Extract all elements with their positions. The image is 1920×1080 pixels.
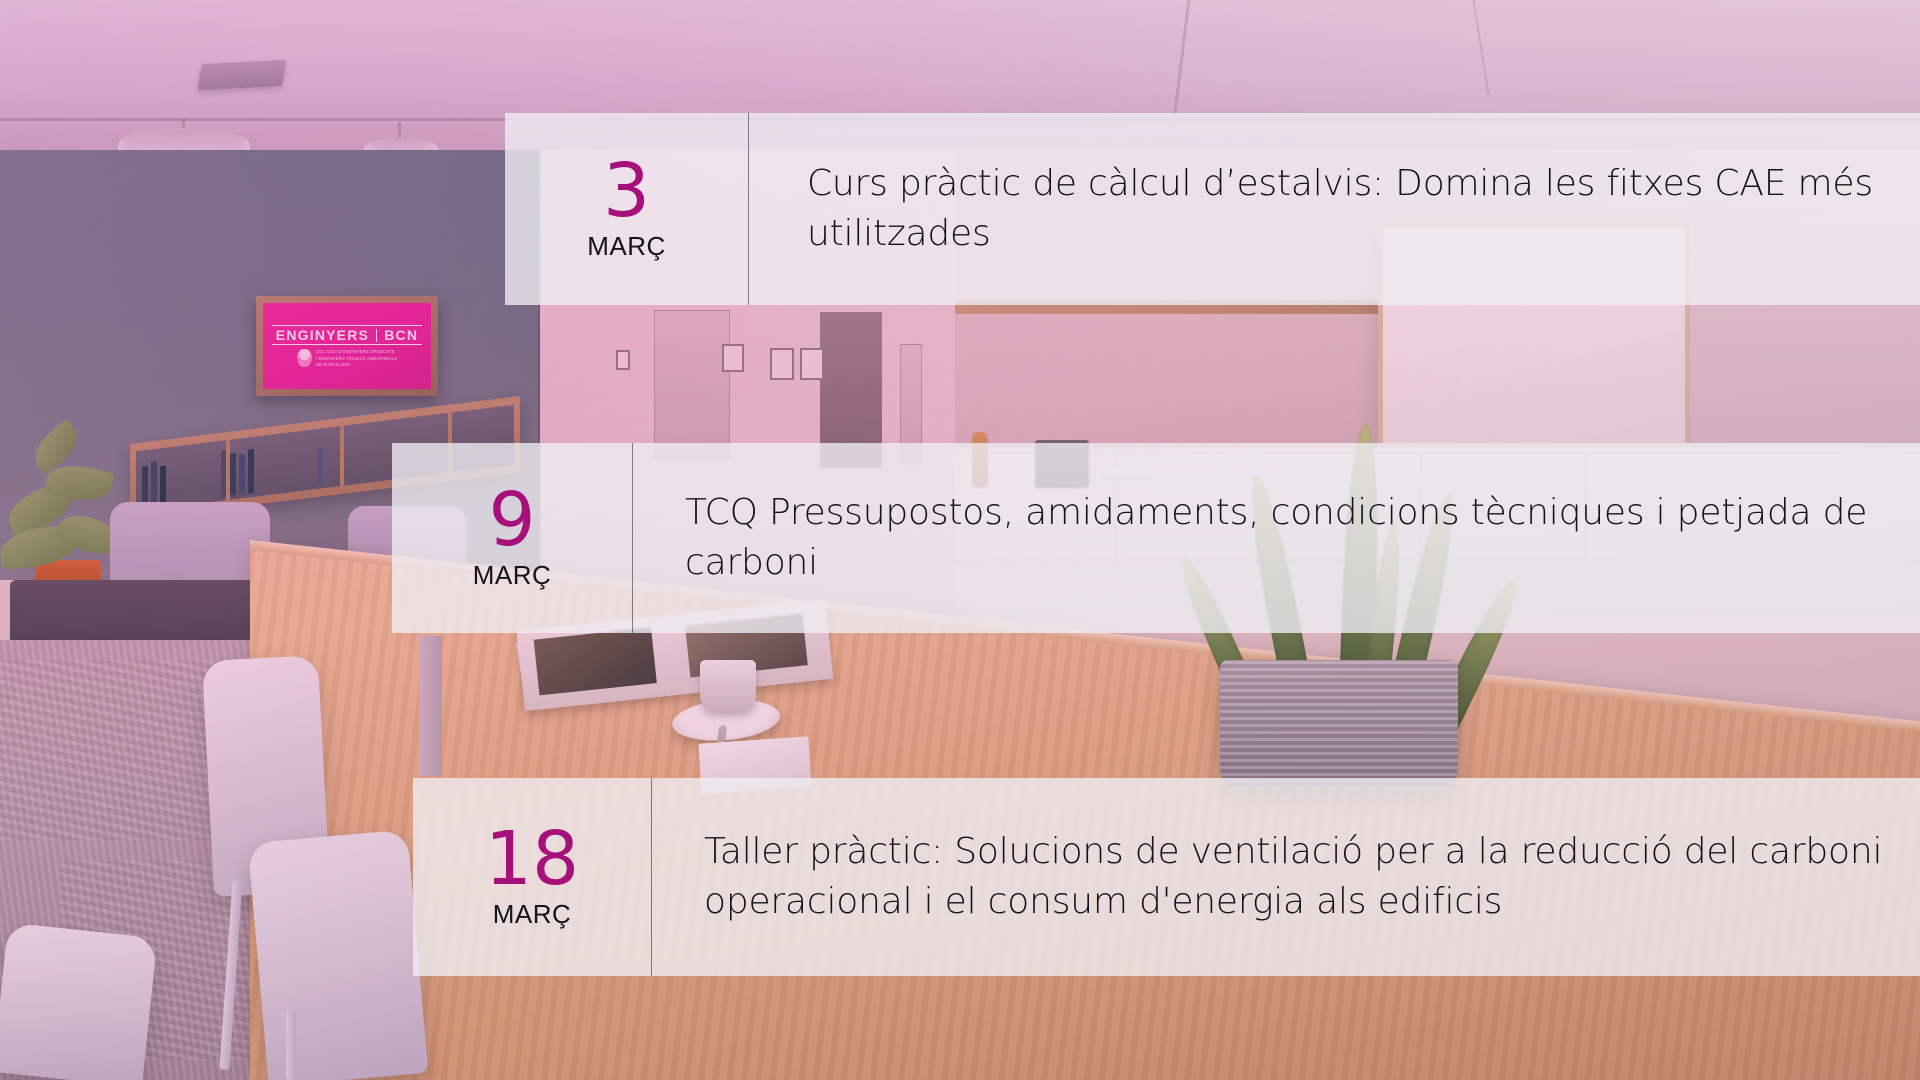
enginyers-bcn-logo-screen: ENGINYERS BCN COL·LEGI D'ENGINYERS GRADU… [263,303,431,389]
wall-frame-3 [800,348,824,380]
shelf-divider [226,440,230,500]
table-leg [420,636,442,776]
event-card-1[interactable]: 3 MARÇ Curs pràctic de càlcul d’estalvis… [505,113,1920,305]
wall-screen-frame: ENGINYERS BCN COL·LEGI D'ENGINYERS GRADU… [256,296,438,396]
book [160,466,166,505]
event-date-2: 9 MARÇ [392,443,632,633]
book [230,453,236,496]
chair-leg [286,1010,296,1080]
chair-front-2 [248,829,429,1080]
magazine-photo-left [534,627,657,695]
book [151,461,157,506]
snake-plant-pot [1220,660,1458,790]
event-card-3[interactable]: 18 MARÇ Taller pràctic: Solucions de ven… [413,778,1920,976]
event-month-1: MARÇ [587,231,666,262]
event-day-2: 9 [488,485,535,555]
coffee-cup [700,660,756,712]
book [248,449,254,494]
book [317,448,323,485]
event-title-2: TCQ Pressupostos, amidaments, condicions… [633,443,1920,633]
book [239,454,245,495]
event-date-3: 18 MARÇ [413,778,651,976]
door-left [654,310,730,460]
brand-subtitle-line-2: I ENGINYERS TÈCNICS INDUSTRIALS [316,356,397,361]
book [142,466,148,507]
brand-suffix: BCN [384,327,418,343]
event-day-3: 18 [485,824,579,894]
event-month-2: MARÇ [473,560,552,591]
ceiling-vent [198,60,287,90]
wall-frame-2 [770,348,794,380]
event-month-3: MARÇ [493,899,572,930]
brand-wordmark: ENGINYERS BCN [272,325,422,345]
event-title-3: Taller pràctic: Solucions de ventilació … [652,778,1920,976]
event-title-1: Curs pràctic de càlcul d’estalvis: Domin… [749,113,1920,305]
chair-front-3 [0,923,157,1080]
event-card-2[interactable]: 9 MARÇ TCQ Pressupostos, amidaments, con… [392,443,1920,633]
wall-frame-4 [616,350,630,370]
armchair-lilac [110,502,270,588]
brand-subtitle-line-3: DE BARCELONA [316,362,397,367]
brand-separator [376,329,377,342]
shelf-divider [340,426,344,486]
event-date-1: 3 MARÇ [505,113,748,305]
event-day-1: 3 [603,156,650,226]
brand-subtitle: COL·LEGI D'ENGINYERS GRADUATS I ENGINYER… [297,349,397,367]
lamp-stem-2 [398,122,401,138]
wall-frame-1 [722,344,744,372]
crest-icon [297,349,312,367]
brand-name: ENGINYERS [276,327,369,343]
brand-subtitle-line-1: COL·LEGI D'ENGINYERS GRADUATS [316,349,397,354]
